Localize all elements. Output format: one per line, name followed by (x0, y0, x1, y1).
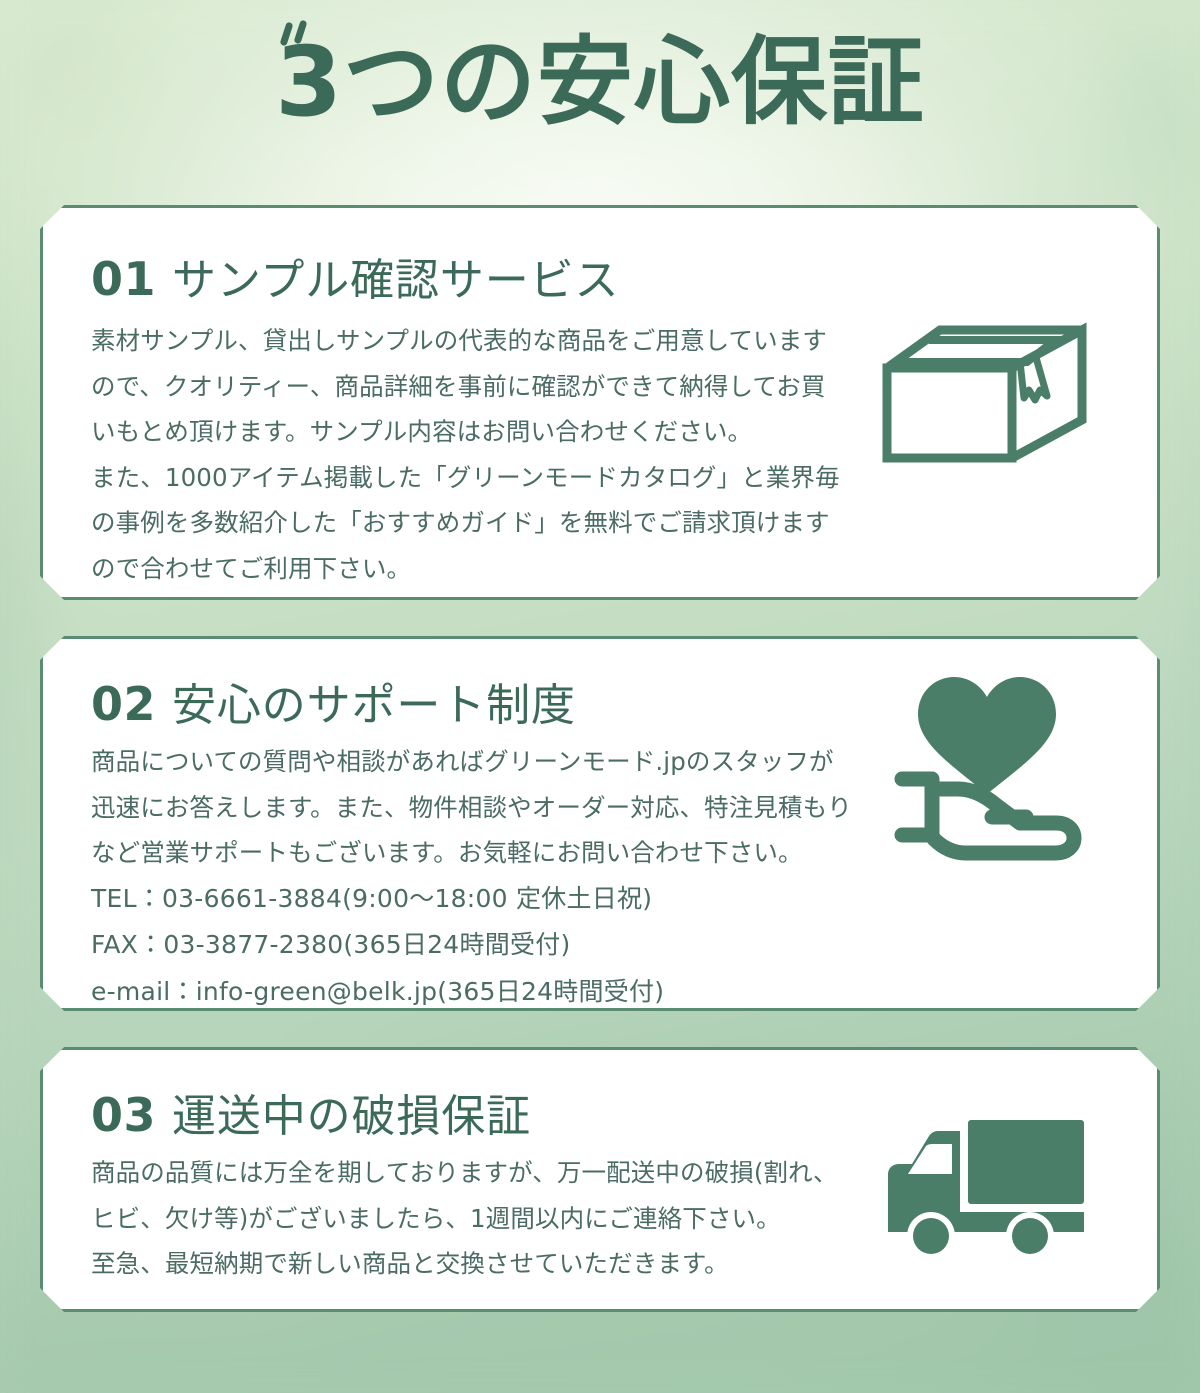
card-01-title: サンプル確認サービス (172, 244, 619, 308)
heart-in-hand-icon (880, 659, 1095, 864)
card-02-number: 02 (91, 677, 156, 731)
card-02-email-line: e-mail：info-green@belk.jp(365日24時間受付) (91, 969, 931, 1016)
card-01-heading: 01 サンプル確認サービス (91, 244, 619, 308)
page-title: 3つの安心保証 (275, 34, 925, 130)
card-01-body: 素材サンプル、貸出しサンプルの代表的な商品をご用意しています ので、クオリティー… (91, 318, 911, 591)
card-02-fax-line: FAX：03-3877-2380(365日24時間受付) (91, 922, 931, 969)
card-03-heading: 03 運送中の破損保証 (91, 1080, 531, 1144)
page-title-text: 3つの安心保証 (275, 26, 925, 138)
card-02-line-3: など営業サポートもございます。お気軽にお問い合わせ下さい。 (91, 830, 931, 876)
card-03-number: 03 (91, 1088, 156, 1142)
delivery-truck-icon (874, 1112, 1099, 1272)
guarantee-page: 3つの安心保証 01 サンプル確認サービス 素材サンプル、貸出しサンプルの代表的… (0, 0, 1200, 1393)
page-title-wrap: 3つの安心保証 (0, 34, 1200, 130)
card-01-line-3: いもとめ頂けます。サンプル内容はお問い合わせください。 (91, 409, 911, 455)
card-02-heading: 02 安心のサポート制度 (91, 669, 576, 733)
card-03-title: 運送中の破損保証 (172, 1080, 531, 1144)
card-01-line-1: 素材サンプル、貸出しサンプルの代表的な商品をご用意しています (91, 318, 911, 364)
card-01-line-6: ので合わせてご利用下さい。 (91, 546, 911, 592)
card-01-line-5: の事例を多数紹介した「おすすめガイド」を無料でご請求頂けます (91, 500, 911, 546)
cardboard-box-icon (877, 318, 1097, 468)
card-02-tel-line: TEL：03-6661-3884(9:00〜18:00 定休土日祝) (91, 876, 931, 923)
card-02-title: 安心のサポート制度 (172, 669, 576, 733)
double-tick-accent-icon (281, 20, 315, 54)
card-03-line-3: 至急、最短納期で新しい商品と交換させていただきます。 (91, 1241, 891, 1287)
guarantee-card-02: 02 安心のサポート制度 商品についての質問や相談があればグリーンモード.jpの… (40, 636, 1160, 1011)
guarantee-card-01: 01 サンプル確認サービス 素材サンプル、貸出しサンプルの代表的な商品をご用意し… (40, 205, 1160, 600)
card-01-line-2: ので、クオリティー、商品詳細を事前に確認ができて納得してお買 (91, 364, 911, 410)
card-03-body: 商品の品質には万全を期しておりますが、万一配送中の破損(割れ、 ヒビ、欠け等)が… (91, 1150, 891, 1287)
card-02-line-1: 商品についての質問や相談があればグリーンモード.jpのスタッフが (91, 739, 931, 785)
card-03-line-2: ヒビ、欠け等)がございましたら、1週間以内にご連絡下さい。 (91, 1196, 891, 1242)
card-02-line-2: 迅速にお答えします。また、物件相談やオーダー対応、特注見積もり (91, 785, 931, 831)
guarantee-card-03: 03 運送中の破損保証 商品の品質には万全を期しておりますが、万一配送中の破損(… (40, 1047, 1160, 1312)
card-03-line-1: 商品の品質には万全を期しておりますが、万一配送中の破損(割れ、 (91, 1150, 891, 1196)
card-02-body: 商品についての質問や相談があればグリーンモード.jpのスタッフが 迅速にお答えし… (91, 739, 931, 1015)
card-01-line-4: また、1000アイテム掲載した「グリーンモードカタログ」と業界毎 (91, 455, 911, 501)
card-01-number: 01 (91, 252, 156, 306)
